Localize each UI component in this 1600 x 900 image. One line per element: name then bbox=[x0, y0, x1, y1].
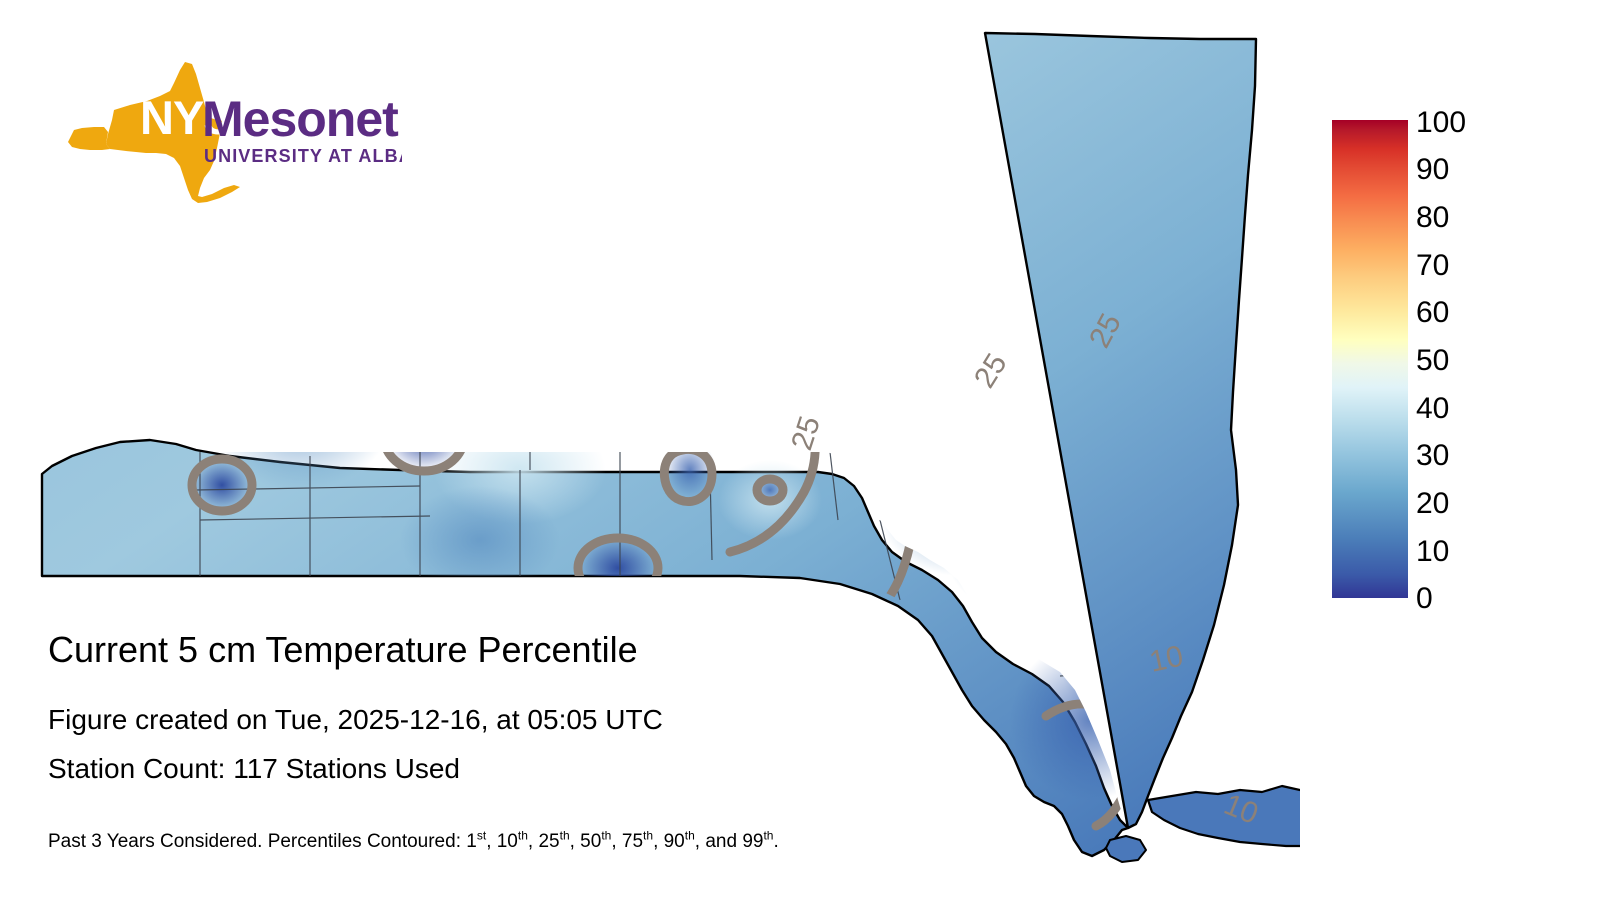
colorbar-tick-100: 100 bbox=[1416, 108, 1536, 138]
percentile-fill-layer bbox=[42, 33, 1300, 862]
hotspot-mid bbox=[400, 486, 560, 594]
figure-created-text: Figure created on Tue, 2025-12-16, at 05… bbox=[48, 703, 663, 737]
footnote-lead: Past 3 Years Considered. Percentiles Con… bbox=[48, 831, 466, 852]
colorbar-tick-20: 20 bbox=[1416, 489, 1536, 519]
colorbar-tick-30: 30 bbox=[1416, 441, 1536, 471]
colorbar-panel: 100 90 80 70 60 50 40 30 20 10 0 bbox=[1320, 100, 1580, 640]
hotspot-mid bbox=[730, 40, 990, 200]
percentile-footnote: Past 3 Years Considered. Percentiles Con… bbox=[48, 830, 779, 854]
colorbar-tick-0: 0 bbox=[1416, 584, 1536, 614]
hotspot-light bbox=[612, 322, 768, 438]
hotspot-mid bbox=[948, 508, 1092, 612]
contour-line-25 bbox=[670, 186, 718, 286]
colorbar-tick-70: 70 bbox=[1416, 251, 1536, 281]
colorbar-tick-80: 80 bbox=[1416, 203, 1536, 233]
station-count-text: Station Count: 117 Stations Used bbox=[48, 752, 460, 786]
percentile-colorbar bbox=[1332, 120, 1408, 598]
contour-label: 25 bbox=[968, 348, 1014, 394]
staten-island-fill bbox=[1106, 836, 1146, 862]
colorbar-tick-50: 50 bbox=[1416, 346, 1536, 376]
colorbar-tick-40: 40 bbox=[1416, 394, 1536, 424]
hotspot-light bbox=[730, 238, 870, 362]
contour-label: 25 bbox=[785, 412, 827, 454]
page-title: Current 5 cm Temperature Percentile bbox=[48, 628, 638, 672]
colorbar-tick-10: 10 bbox=[1416, 537, 1536, 567]
footnote-ordinals: 1st, 10th, 25th, 50th, 75th, 90th, and 9… bbox=[466, 831, 778, 852]
contour-ring bbox=[1014, 576, 1058, 616]
colorbar-tick-90: 90 bbox=[1416, 155, 1536, 185]
hotspot-min bbox=[1010, 572, 1062, 620]
colorbar-tick-60: 60 bbox=[1416, 298, 1536, 328]
hotspot-light bbox=[845, 382, 965, 478]
contour-label: 10 bbox=[1147, 640, 1187, 679]
